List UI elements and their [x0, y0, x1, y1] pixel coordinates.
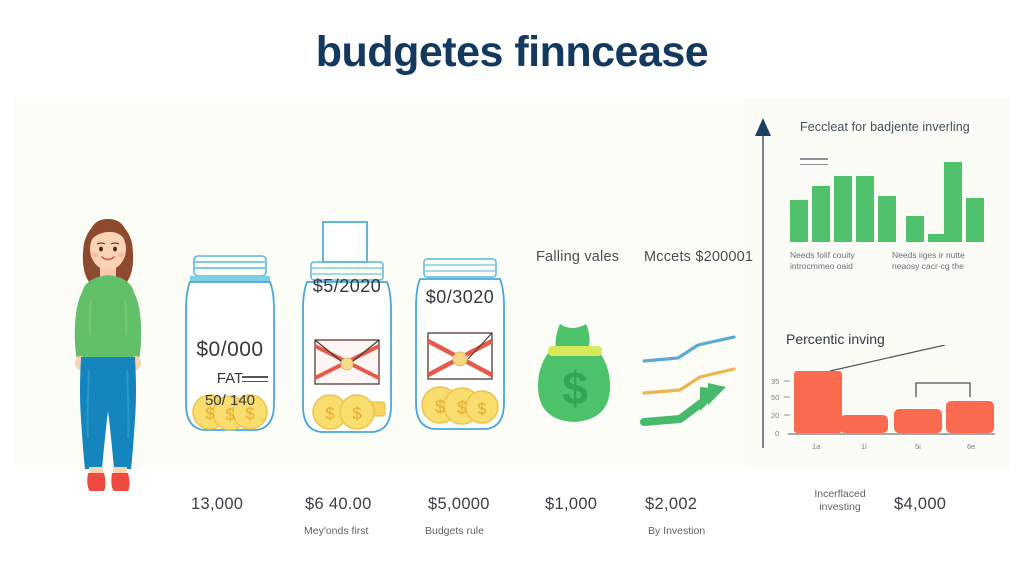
value-6: $4,000 [894, 495, 946, 514]
svg-text:$: $ [478, 401, 487, 418]
forecast-caption-left: Needs folif couity introcmmeo oaid [790, 250, 886, 272]
svg-text:$: $ [562, 362, 588, 414]
percent-xtick-1: 1l [861, 442, 867, 451]
woman-illustration [58, 205, 158, 495]
value-0: 13,000 [191, 495, 243, 514]
jar-two-graphic: $ $ [295, 220, 399, 438]
percent-ytick-0: 35 [771, 377, 779, 386]
percent-xtick-2: 5i [915, 442, 921, 451]
value-5-sub: Incerflaced investing [800, 488, 880, 514]
value-2: $5,0000 [428, 495, 490, 514]
svg-text:$: $ [325, 404, 335, 423]
value-1-sub: Mey'onds first [304, 525, 368, 537]
trend-lines-chart [638, 325, 742, 430]
jar-one: $ $ $ $0/000 FAT 50/ 140 [178, 252, 282, 437]
value-4-sub: By Investion [648, 525, 705, 537]
jar-three-envelope-icon [428, 333, 492, 379]
value-2-sub: Budgets rule [425, 525, 484, 537]
jar-three: $ $ $ $0/3020 [408, 255, 512, 440]
trend-label: Mccets $200001 [644, 249, 753, 265]
percent-xtick-3: 6e [967, 442, 975, 451]
jar-one-ratio: 50/ 140 [178, 392, 282, 409]
jar-three-amount: $0/3020 [408, 287, 512, 308]
percent-ytick-1: 50 [771, 393, 779, 402]
value-3: $1,000 [545, 495, 597, 514]
page-title: budgetes finncease [0, 28, 1024, 77]
infographic-canvas: budgetes finncease [0, 0, 1024, 585]
jar-three-graphic: $ $ $ [408, 255, 512, 440]
money-bag-label: Falling vales [536, 249, 619, 265]
value-1: $6 40.00 [305, 495, 372, 514]
money-bag-icon: $ [534, 318, 616, 430]
forecast-bar-chart [788, 160, 988, 242]
jar-three-coins: $ $ $ [422, 387, 498, 424]
jar-two-envelope-icon [315, 340, 379, 384]
forecast-chart-title: Feccleat for badjente inverling [800, 120, 970, 134]
percent-ytick-3: 0 [775, 429, 779, 438]
percent-xtick-0: 1a [812, 442, 820, 451]
percent-ytick-2: 20 [771, 411, 779, 420]
value-4: $2,002 [645, 495, 697, 514]
svg-text:$: $ [435, 397, 445, 417]
jar-two-amount: $5/2020 [295, 276, 399, 297]
jar-one-amount: $0/000 [178, 338, 282, 362]
percent-bar-chart [770, 345, 995, 450]
svg-text:$: $ [457, 398, 467, 418]
svg-text:$: $ [352, 404, 362, 423]
jar-one-dashes-icon [242, 376, 268, 385]
forecast-caption-right: Needs iiges ir nutte neaosy cacr·cg the [892, 250, 988, 272]
jar-two: $ $ $5/2020 [295, 220, 399, 438]
